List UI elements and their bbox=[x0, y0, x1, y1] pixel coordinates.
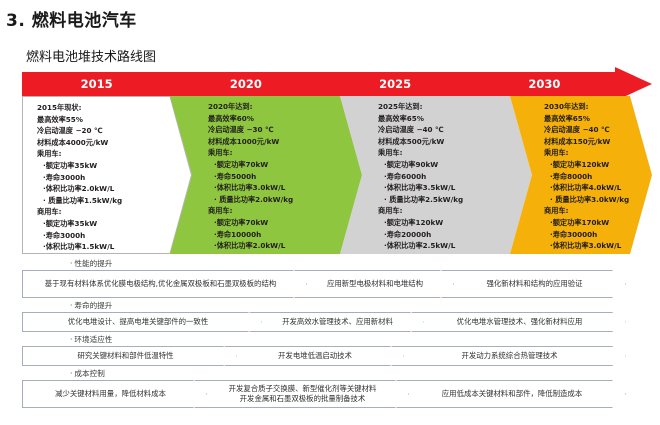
stage-spec-line: 冷启动温度 −20 ℃ bbox=[37, 125, 122, 137]
capability-step[interactable]: 开发高效水管理技术、应用新材料 bbox=[249, 312, 424, 332]
capability-step-text: 基于现有材料体系优化膜电极结构,优化金属双极板和石墨双极板的结构 bbox=[45, 279, 276, 290]
stage-spec-line: 材料成本1000元/kW bbox=[208, 136, 293, 148]
stage-spec-line: 乘用车: bbox=[37, 148, 122, 160]
capability-row-group: ·性能的提升基于现有材料体系优化膜电极结构,优化金属双极板和石墨双极板的结构应用… bbox=[22, 258, 652, 410]
stage-spec-line: ·额定功率70kW bbox=[208, 159, 293, 171]
stage-spec-list-2020: 2020年达到:最高效率60%冷启动温度 −30 ℃材料成本1000元/kW乘用… bbox=[208, 101, 293, 252]
stage-spec-line: 材料成本500元/kW bbox=[378, 136, 463, 148]
stage-spec-line: 2025年达到: bbox=[378, 101, 463, 113]
stage-spec-line: 材料成本150元/kW bbox=[544, 136, 629, 148]
stage-spec-line: 2020年达到: bbox=[208, 101, 293, 113]
stage-spec-line: ·体积比功率3.5kW/L bbox=[378, 182, 463, 194]
capability-row-2: ·环境适应性研究关键材料和部件低温特性开发电堆低温启动技术开发动力系统综合热管理… bbox=[22, 334, 652, 366]
stage-spec-line: 最高效率60% bbox=[208, 113, 293, 125]
stage-spec-line: ·寿命3000h bbox=[37, 230, 122, 242]
stage-spec-line: 最高效率65% bbox=[378, 113, 463, 125]
stage-spec-line: ·体积比功率3.0kW/L bbox=[544, 240, 629, 252]
capability-step-track: 研究关键材料和部件低温特性开发电堆低温启动技术开发动力系统综合热管理技术 bbox=[22, 346, 652, 366]
capability-step[interactable]: 优化电堆水管理技术、强化新材料应用 bbox=[411, 312, 626, 332]
stage-spec-line: · 质量比功率3.0kW/kg bbox=[544, 194, 629, 206]
stage-spec-line: 乘用车: bbox=[208, 147, 293, 159]
stage-chevron-group: 2015年现状:最高效率55%冷启动温度 −20 ℃材料成本4000元/kW乘用… bbox=[22, 96, 652, 254]
stage-spec-line: ·额定功率35kW bbox=[37, 218, 122, 230]
capability-step-text: 开发高效水管理技术、应用新材料 bbox=[282, 317, 393, 328]
capability-step[interactable]: 基于现有材料体系优化膜电极结构,优化金属双极板和石墨双极板的结构 bbox=[22, 270, 307, 298]
capability-step-text: 开发电堆低温启动技术 bbox=[278, 351, 352, 362]
stage-spec-line: 2030年达到: bbox=[544, 101, 629, 113]
capability-row-0: ·性能的提升基于现有材料体系优化膜电极结构,优化金属双极板和石墨双极板的结构应用… bbox=[22, 258, 652, 298]
capability-step-text: 优化电堆水管理技术、强化新材料应用 bbox=[457, 317, 583, 328]
capability-step[interactable]: 应用低成本关键材料和部件，降低制造成本 bbox=[396, 380, 626, 408]
stage-spec-line: · 质量比功率1.5kW/kg bbox=[37, 195, 122, 207]
stage-spec-line: 商用车: bbox=[208, 205, 293, 217]
capability-step-track: 基于现有材料体系优化膜电极结构,优化金属双极板和石墨双极板的结构应用新型电极材料… bbox=[22, 270, 652, 298]
stage-spec-line: ·体积比功率2.5kW/L bbox=[378, 240, 463, 252]
capability-step[interactable]: 开发复合质子交换膜、新型催化剂等关键材料开发金属和石墨双极板的批量制备技术 bbox=[194, 380, 409, 408]
capability-step-track: 优化电堆设计、提高电堆关键部件的一致性开发高效水管理技术、应用新材料优化电堆水管… bbox=[22, 312, 652, 332]
stage-spec-line: ·体积比功率2.0kW/L bbox=[208, 240, 293, 252]
stage-spec-line: ·寿命30000h bbox=[544, 229, 629, 241]
stage-spec-line: ·额定功率120kW bbox=[378, 217, 463, 229]
stage-spec-line: 商用车: bbox=[37, 206, 122, 218]
timeline-year-2030: 2030 bbox=[470, 72, 619, 96]
stage-spec-line: ·额定功率35kW bbox=[37, 160, 122, 172]
stage-spec-line: ·寿命20000h bbox=[378, 229, 463, 241]
stage-spec-line: 冷启动温度 −40 ℃ bbox=[544, 124, 629, 136]
capability-step[interactable]: 强化新材料和结构的应用验证 bbox=[441, 270, 626, 298]
capability-step-track: 减少关键材料用量，降低材料成本开发复合质子交换膜、新型催化剂等关键材料开发金属和… bbox=[22, 380, 652, 408]
capability-row-label: ·环境适应性 bbox=[22, 334, 652, 346]
timeline-arrow: 2015202020252030 bbox=[22, 72, 652, 96]
capability-row-3: ·成本控制减少关键材料用量，降低材料成本开发复合质子交换膜、新型催化剂等关键材料… bbox=[22, 368, 652, 408]
capability-step-text: 研究关键材料和部件低温特性 bbox=[77, 351, 173, 362]
timeline-year-labels: 2015202020252030 bbox=[22, 72, 619, 96]
capability-step[interactable]: 应用新型电极材料和电堆结构 bbox=[294, 270, 454, 298]
stage-spec-line: ·额定功率120kW bbox=[544, 159, 629, 171]
stage-spec-line: 乘用车: bbox=[378, 147, 463, 159]
stage-spec-line: ·寿命3000h bbox=[37, 172, 122, 184]
roadmap-subtitle: 燃料电池堆技术路线图 bbox=[26, 46, 156, 65]
stage-spec-line: ·寿命6000h bbox=[378, 171, 463, 183]
stage-spec-line: ·体积比功率1.5kW/L bbox=[37, 241, 122, 253]
page-title: 3. 燃料电池汽车 bbox=[6, 6, 137, 31]
stage-spec-line: ·额定功率170kW bbox=[544, 217, 629, 229]
capability-row-label-text: 性能的提升 bbox=[74, 259, 112, 268]
capability-step-text: 强化新材料和结构的应用验证 bbox=[486, 279, 582, 290]
timeline-year-2015: 2015 bbox=[22, 72, 171, 96]
stage-spec-list-2030: 2030年达到:最高效率65%冷启动温度 −40 ℃材料成本150元/kW乘用车… bbox=[544, 101, 629, 252]
stage-spec-line: · 质量比功率2.5kW/kg bbox=[378, 194, 463, 206]
stage-spec-line: 商用车: bbox=[378, 205, 463, 217]
stage-spec-line: ·额定功率90kW bbox=[378, 159, 463, 171]
stage-spec-line: 商用车: bbox=[544, 205, 629, 217]
stage-spec-line: 最高效率55% bbox=[37, 114, 122, 126]
bullet-dot-icon: · bbox=[70, 301, 72, 310]
stage-spec-line: ·体积比功率4.0kW/L bbox=[544, 182, 629, 194]
stage-spec-list-2015: 2015年现状:最高效率55%冷启动温度 −20 ℃材料成本4000元/kW乘用… bbox=[37, 102, 122, 253]
capability-row-label-text: 寿命的提升 bbox=[74, 301, 112, 310]
bullet-dot-icon: · bbox=[70, 369, 72, 378]
capability-step[interactable]: 减少关键材料用量，降低材料成本 bbox=[22, 380, 207, 408]
capability-row-1: ·寿命的提升优化电堆设计、提高电堆关键部件的一致性开发高效水管理技术、应用新材料… bbox=[22, 300, 652, 332]
stage-spec-line: 2015年现状: bbox=[37, 102, 122, 114]
stage-spec-line: ·体积比功率2.0kW/L bbox=[37, 183, 122, 195]
stage-spec-line: ·额定功率70kW bbox=[208, 217, 293, 229]
timeline-year-2025: 2025 bbox=[321, 72, 470, 96]
stage-spec-line: 最高效率65% bbox=[544, 113, 629, 125]
timeline-year-2020: 2020 bbox=[171, 72, 320, 96]
stage-panel-2020[interactable]: 2020年达到:最高效率60%冷启动温度 −30 ℃材料成本1000元/kW乘用… bbox=[170, 96, 362, 254]
capability-row-label: ·寿命的提升 bbox=[22, 300, 652, 312]
stage-spec-line: 冷启动温度 −30 ℃ bbox=[208, 124, 293, 136]
slide-canvas: 3. 燃料电池汽车 燃料电池堆技术路线图 2015202020252030 20… bbox=[0, 0, 660, 425]
capability-step-text: 应用新型电极材料和电堆结构 bbox=[327, 279, 423, 290]
stage-spec-line: ·寿命8000h bbox=[544, 171, 629, 183]
stage-spec-line: ·寿命10000h bbox=[208, 229, 293, 241]
capability-row-label-text: 成本控制 bbox=[74, 369, 104, 378]
capability-row-label-text: 环境适应性 bbox=[74, 335, 112, 344]
capability-step-text: 应用低成本关键材料和部件，降低制造成本 bbox=[442, 389, 582, 400]
capability-row-label: ·性能的提升 bbox=[22, 258, 652, 270]
stage-spec-list-2025: 2025年达到:最高效率65%冷启动温度 −40 ℃材料成本500元/kW乘用车… bbox=[378, 101, 463, 252]
stage-spec-line: 材料成本4000元/kW bbox=[37, 137, 122, 149]
stage-spec-line: · 质量比功率2.0kW/kg bbox=[208, 194, 293, 206]
capability-step-text: 优化电堆设计、提高电堆关键部件的一致性 bbox=[68, 317, 208, 328]
capability-step[interactable]: 开发电堆低温启动技术 bbox=[224, 346, 404, 366]
bullet-dot-icon: · bbox=[70, 259, 72, 268]
capability-step-text: 减少关键材料用量，降低材料成本 bbox=[55, 389, 166, 400]
capability-step[interactable]: 研究关键材料和部件低温特性 bbox=[22, 346, 237, 366]
capability-step[interactable]: 优化电堆设计、提高电堆关键部件的一致性 bbox=[22, 312, 262, 332]
capability-step-text: 开发复合质子交换膜、新型催化剂等关键材料开发金属和石墨双极板的批量制备技术 bbox=[229, 384, 377, 405]
stage-spec-line: ·寿命5000h bbox=[208, 171, 293, 183]
stage-spec-line: 冷启动温度 −40 ℃ bbox=[378, 124, 463, 136]
capability-step[interactable]: 开发动力系统综合热管理技术 bbox=[391, 346, 626, 366]
capability-row-label: ·成本控制 bbox=[22, 368, 652, 380]
stage-spec-line: 乘用车: bbox=[544, 147, 629, 159]
stage-spec-line: ·体积比功率3.0kW/L bbox=[208, 182, 293, 194]
bullet-dot-icon: · bbox=[70, 335, 72, 344]
stage-panel-2025[interactable]: 2025年达到:最高效率65%冷启动温度 −40 ℃材料成本500元/kW乘用车… bbox=[340, 96, 532, 254]
capability-step-text: 开发动力系统综合热管理技术 bbox=[461, 351, 557, 362]
stage-panel-2015[interactable]: 2015年现状:最高效率55%冷启动温度 −20 ℃材料成本4000元/kW乘用… bbox=[22, 96, 192, 254]
